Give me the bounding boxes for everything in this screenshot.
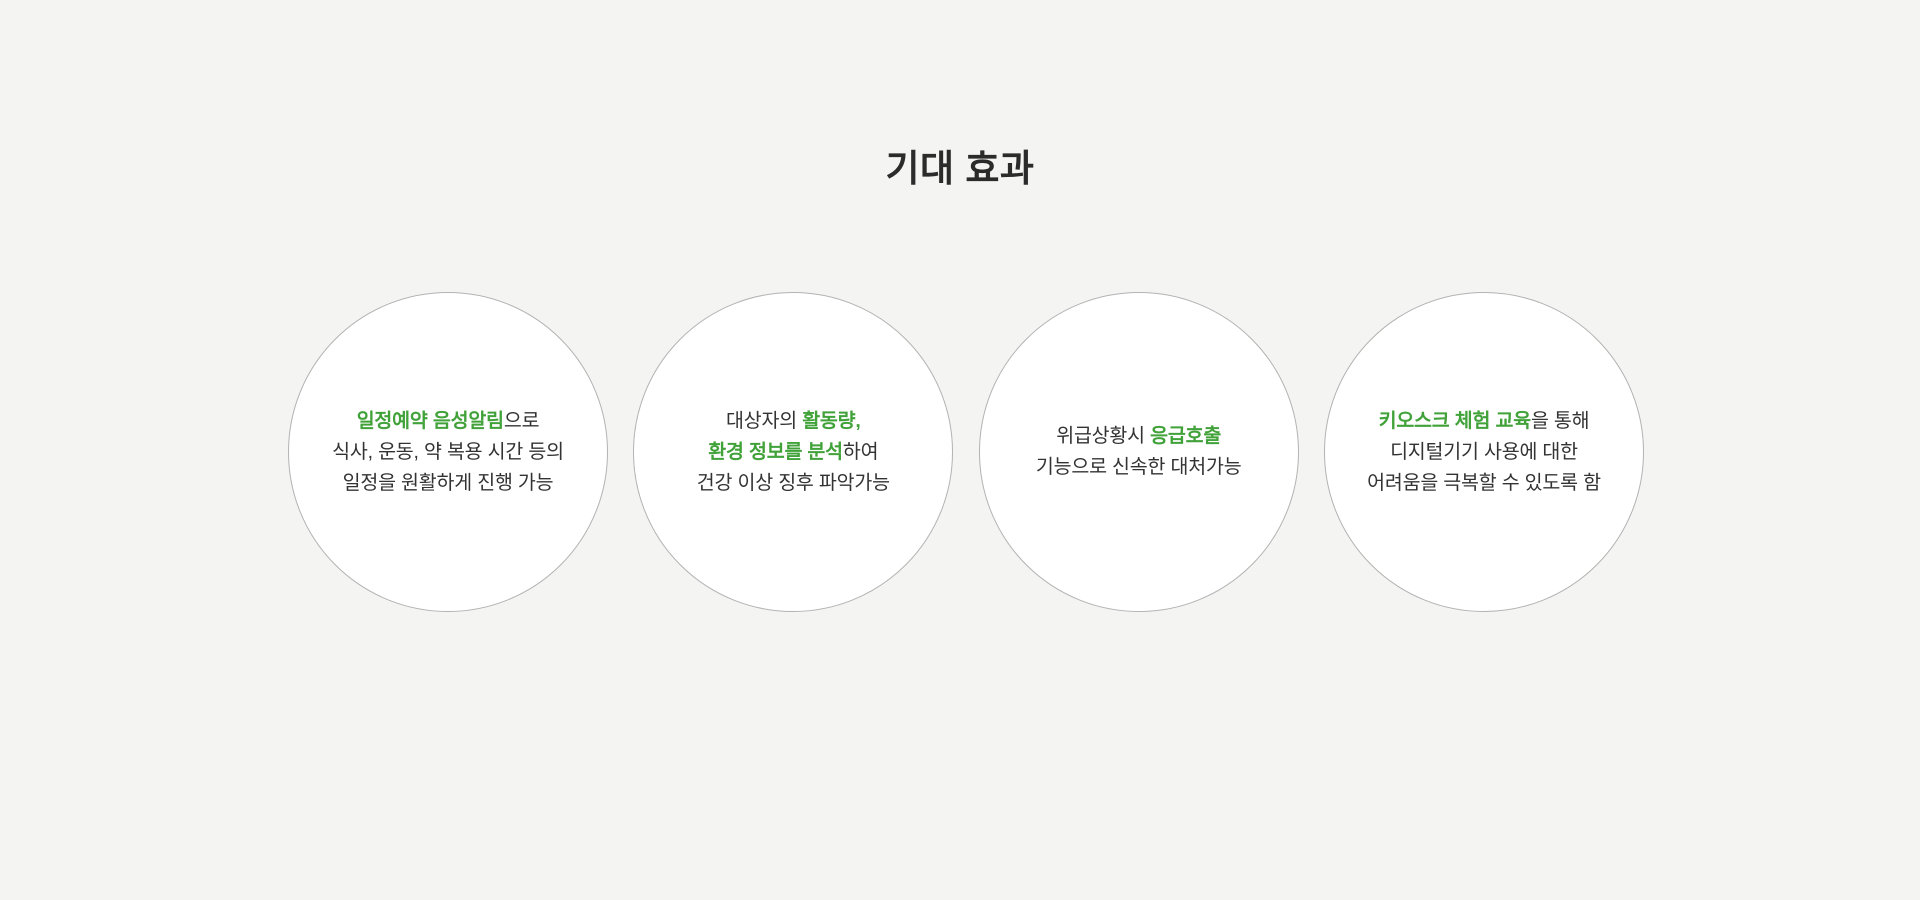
effect-card-line: 건강 이상 징후 파악가능 (648, 468, 938, 499)
body-text-run: 으로 (504, 410, 539, 432)
body-text-run: 하여 (843, 441, 878, 463)
effect-card-kiosk-experience-education: 키오스크 체험 교육을 통해디지털기기 사용에 대한어려움을 극복할 수 있도록… (1324, 292, 1644, 612)
effect-circle-row: 일정예약 음성알림으로식사, 운동, 약 복용 시간 등의일정을 원활하게 진행… (288, 292, 1644, 612)
effect-card-line: 기능으로 신속한 대처가능 (994, 452, 1284, 483)
effect-card-line: 키오스크 체험 교육을 통해 (1339, 406, 1629, 437)
highlighted-keyword: 활동량, (802, 410, 860, 432)
body-text-run: 건강 이상 징후 파악가능 (697, 472, 890, 494)
effect-card-line: 식사, 운동, 약 복용 시간 등의 (303, 437, 593, 468)
effect-card-line: 어려움을 극복할 수 있도록 함 (1339, 468, 1629, 499)
body-text-run: 디지털기기 사용에 대한 (1390, 441, 1578, 463)
effect-card-line: 위급상황시 응급호출 (994, 421, 1284, 452)
effect-card-line: 일정예약 음성알림으로 (303, 406, 593, 437)
body-text-run: 식사, 운동, 약 복용 시간 등의 (332, 441, 564, 463)
effect-card-activity-environment-analysis: 대상자의 활동량,환경 정보를 분석하여건강 이상 징후 파악가능 (633, 292, 953, 612)
highlighted-keyword: 환경 정보를 분석 (708, 441, 843, 463)
expected-effects-section: 기대 효과 일정예약 음성알림으로식사, 운동, 약 복용 시간 등의일정을 원… (0, 0, 1920, 900)
body-text-run: 기능으로 신속한 대처가능 (1036, 456, 1242, 478)
highlighted-keyword: 키오스크 체험 교육 (1379, 410, 1531, 432)
body-text-run: 대상자의 (726, 410, 802, 432)
effect-card-line: 대상자의 활동량, (648, 406, 938, 437)
body-text-run: 위급상황시 (1056, 425, 1150, 447)
body-text-run: 일정을 원활하게 진행 가능 (343, 472, 554, 494)
body-text-run: 을 통해 (1531, 410, 1589, 432)
effect-card-line: 디지털기기 사용에 대한 (1339, 437, 1629, 468)
effect-card-text: 위급상황시 응급호출기능으로 신속한 대처가능 (994, 421, 1284, 483)
effect-card-line: 환경 정보를 분석하여 (648, 437, 938, 468)
body-text-run: 어려움을 극복할 수 있도록 함 (1367, 472, 1601, 494)
highlighted-keyword: 일정예약 음성알림 (357, 410, 504, 432)
highlighted-keyword: 응급호출 (1150, 425, 1221, 447)
effect-card-schedule-voice-alarm: 일정예약 음성알림으로식사, 운동, 약 복용 시간 등의일정을 원활하게 진행… (288, 292, 608, 612)
effect-card-emergency-call: 위급상황시 응급호출기능으로 신속한 대처가능 (979, 292, 1299, 612)
page-title: 기대 효과 (0, 147, 1920, 191)
effect-card-text: 키오스크 체험 교육을 통해디지털기기 사용에 대한어려움을 극복할 수 있도록… (1339, 406, 1629, 499)
effect-card-line: 일정을 원활하게 진행 가능 (303, 468, 593, 499)
effect-card-text: 대상자의 활동량,환경 정보를 분석하여건강 이상 징후 파악가능 (648, 406, 938, 499)
effect-card-text: 일정예약 음성알림으로식사, 운동, 약 복용 시간 등의일정을 원활하게 진행… (303, 406, 593, 499)
